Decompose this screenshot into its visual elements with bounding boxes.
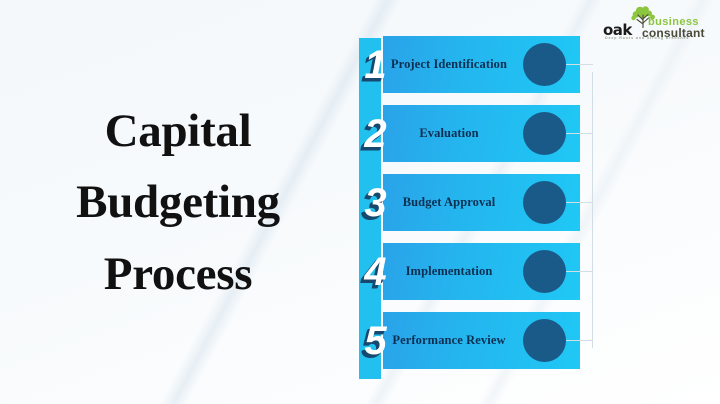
step-label: Performance Review xyxy=(379,312,519,369)
title-line-3: Process xyxy=(18,239,338,310)
step-label: Evaluation xyxy=(379,105,519,162)
step-number: 2 xyxy=(355,109,395,159)
step-label: Budget Approval xyxy=(379,174,519,231)
slide-canvas: oak business consultant Deep Roots and S… xyxy=(0,0,720,404)
step-connector xyxy=(566,64,593,65)
step-connector xyxy=(566,133,593,134)
process-step-2[interactable]: Evaluation 2 xyxy=(355,105,610,162)
step-dot xyxy=(523,250,566,293)
process-step-4[interactable]: Implementation 4 xyxy=(355,243,610,300)
step-dot xyxy=(523,319,566,362)
logo-tagline: Deep Roots and Strong Branches xyxy=(605,37,689,41)
process-step-1[interactable]: Project Identification 1 xyxy=(355,36,610,93)
step-connector xyxy=(566,202,593,203)
page-title: Capital Budgeting Process xyxy=(18,96,338,310)
process-step-3[interactable]: Budget Approval 3 xyxy=(355,174,610,231)
step-number: 4 xyxy=(355,247,395,297)
step-dot xyxy=(523,181,566,224)
brand-logo: oak business consultant Deep Roots and S… xyxy=(601,6,707,44)
step-dot xyxy=(523,112,566,155)
step-connector xyxy=(566,271,593,272)
step-number: 1 xyxy=(355,40,395,90)
step-dot xyxy=(523,43,566,86)
step-label: Project Identification xyxy=(379,36,519,93)
title-line-1: Capital xyxy=(18,96,338,167)
step-connector xyxy=(566,340,593,341)
step-number: 3 xyxy=(355,178,395,228)
title-line-2: Budgeting xyxy=(18,167,338,238)
process-step-5[interactable]: Performance Review 5 xyxy=(355,312,610,369)
process-infographic: Project Identification 1 Evaluation 2 Bu… xyxy=(355,36,610,381)
step-label: Implementation xyxy=(379,243,519,300)
step-number: 5 xyxy=(355,316,395,366)
